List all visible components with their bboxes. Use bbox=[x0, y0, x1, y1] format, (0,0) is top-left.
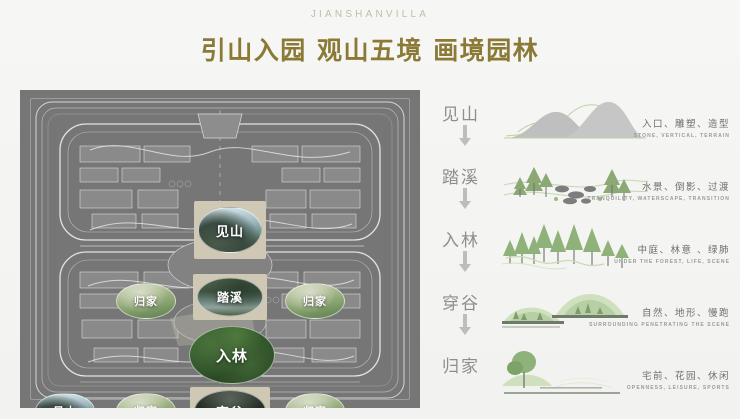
desc-en: UNDER THE FOREST, LIFE, SCENE bbox=[580, 259, 730, 265]
plan-pin-oval: 归家 bbox=[285, 393, 345, 408]
plan-pin-3[interactable]: 归家 bbox=[285, 283, 345, 319]
stage-description: 水景、倒影、过渡 TRANQUILITY, WATERSCAPE, TRANSI… bbox=[580, 179, 730, 202]
plan-pin-label: 归家 bbox=[134, 403, 158, 408]
stage-description: 宅前、花园、休闲 OPENNESS, LEISURE, SPORTS bbox=[580, 368, 730, 391]
plan-pin-2[interactable]: 踏溪 bbox=[197, 278, 263, 317]
plan-pin-1[interactable]: 归家 bbox=[116, 283, 176, 319]
plan-pin-oval: 见山 bbox=[35, 393, 95, 408]
stage-label: 入林 bbox=[442, 226, 496, 251]
desc-en: TRANQUILITY, WATERSCAPE, TRANSITION bbox=[580, 196, 730, 202]
flow-stage-guijia[interactable]: 归家 宅前、花园、休闲 OPENNESS, LEISURE, SPORTS bbox=[440, 348, 730, 411]
desc-zh: 水景、倒影、过渡 bbox=[580, 179, 730, 193]
flow-stage-chuangu[interactable]: 穿谷 bbox=[440, 285, 730, 348]
plan-pin-oval: 见山 bbox=[198, 207, 262, 253]
page-title: 引山入园 观山五境 画境园林 bbox=[0, 31, 740, 67]
journey-flow: 见山 入口、雕塑、造型 STONE, VERTICAL, TERRAIN bbox=[440, 96, 730, 411]
plan-pin-7[interactable]: 穿谷 bbox=[194, 390, 266, 408]
plan-pin-4[interactable]: 入林 bbox=[189, 326, 275, 384]
plan-pin-label: 归家 bbox=[303, 293, 327, 309]
desc-zh: 自然、地形、慢跑 bbox=[580, 305, 730, 319]
brand-label: JIANSHANVILLA bbox=[0, 9, 740, 20]
arrow-down-icon bbox=[458, 188, 472, 210]
plan-pin-label: 见山 bbox=[216, 221, 244, 240]
site-plan[interactable]: 见山归家踏溪归家入林见山归家穿谷归家 bbox=[20, 90, 420, 408]
plan-pin-6[interactable]: 归家 bbox=[116, 393, 176, 408]
desc-en: OPENNESS, LEISURE, SPORTS bbox=[580, 385, 730, 391]
desc-zh: 入口、雕塑、造型 bbox=[580, 116, 730, 130]
arrow-down-icon bbox=[458, 125, 472, 147]
stage-description: 自然、地形、慢跑 SURROUNDING PENETRATING THE SCE… bbox=[580, 305, 730, 328]
plan-pin-8[interactable]: 归家 bbox=[285, 393, 345, 408]
flow-stage-taxi[interactable]: 踏溪 bbox=[440, 159, 730, 222]
plan-pin-label: 穿谷 bbox=[216, 402, 244, 409]
stage-label: 踏溪 bbox=[442, 163, 496, 188]
stage-label: 穿谷 bbox=[442, 289, 496, 314]
plan-pin-oval: 归家 bbox=[285, 283, 345, 319]
stage-description: 入口、雕塑、造型 STONE, VERTICAL, TERRAIN bbox=[580, 116, 730, 139]
plan-pin-label: 踏溪 bbox=[217, 289, 243, 306]
plan-pin-oval: 踏溪 bbox=[197, 278, 263, 317]
stage-label: 归家 bbox=[442, 352, 496, 377]
plan-pin-oval: 归家 bbox=[116, 393, 176, 408]
plan-pin-label: 归家 bbox=[303, 403, 327, 408]
flow-stage-rulin[interactable]: 入林 bbox=[440, 222, 730, 285]
desc-zh: 宅前、花园、休闲 bbox=[580, 368, 730, 382]
arrow-down-icon bbox=[458, 251, 472, 273]
stage-description: 中庭、林意 、绿肺 UNDER THE FOREST, LIFE, SCENE bbox=[580, 242, 730, 265]
desc-en: STONE, VERTICAL, TERRAIN bbox=[580, 133, 730, 139]
desc-zh: 中庭、林意 、绿肺 bbox=[580, 242, 730, 256]
plan-pin-oval: 穿谷 bbox=[194, 390, 266, 408]
plan-pin-oval: 入林 bbox=[189, 326, 275, 384]
desc-en: SURROUNDING PENETRATING THE SCENE bbox=[580, 322, 730, 328]
plan-pin-5[interactable]: 见山 bbox=[35, 393, 95, 408]
plan-pin-label: 见山 bbox=[53, 403, 77, 408]
plan-pin-label: 归家 bbox=[134, 293, 158, 309]
arrow-down-icon bbox=[458, 314, 472, 336]
stage-label: 见山 bbox=[442, 100, 496, 125]
plan-pin-label: 入林 bbox=[216, 345, 248, 366]
plan-pin-oval: 归家 bbox=[116, 283, 176, 319]
slide-root: JIANSHANVILLA 引山入园 观山五境 画境园林 bbox=[0, 0, 740, 419]
plan-pin-0[interactable]: 见山 bbox=[198, 207, 262, 253]
flow-stage-jianshan[interactable]: 见山 入口、雕塑、造型 STONE, VERTICAL, TERRAIN bbox=[440, 96, 730, 159]
